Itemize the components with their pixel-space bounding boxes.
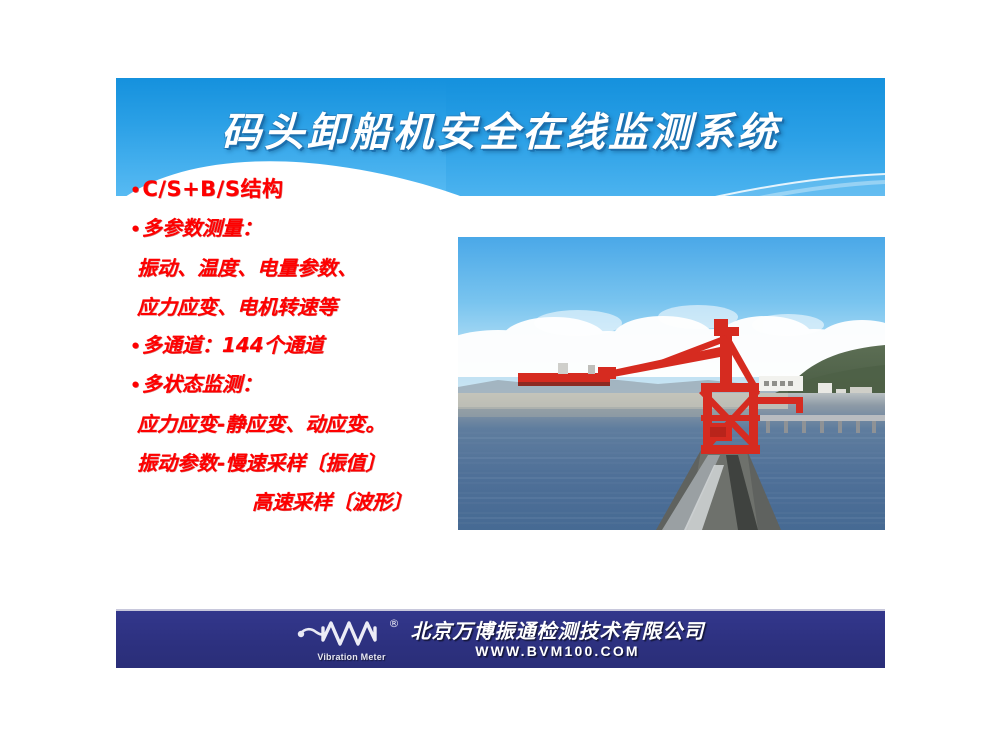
bullet-item: •多状态监测： xyxy=(130,365,490,404)
bullet-label: 应力应变、电机转速等 xyxy=(137,297,337,317)
bullet-item: •多参数测量： xyxy=(130,209,490,248)
bullet-label: 振动参数-慢速采样〔振值〕 xyxy=(137,453,385,473)
bullet-label: 应力应变-静应变、动应变。 xyxy=(137,414,385,434)
bullet-item: 应力应变-静应变、动应变。 xyxy=(130,404,490,443)
registered-trademark-icon: ® xyxy=(389,618,400,629)
photo-illustration xyxy=(458,237,885,530)
bullet-item: 振动参数-慢速采样〔振值〕 xyxy=(130,443,490,482)
footer-bar: ® Vibration Meter 北京万博振通检测技术有限公司 WWW.BVM… xyxy=(116,609,885,668)
bullet-item: •C/S+B/S结构 xyxy=(130,170,490,209)
company-name: 北京万博振通检测技术有限公司 xyxy=(411,621,705,641)
vibration-meter-wave-icon xyxy=(297,618,401,652)
page-title: 码头卸船机安全在线监测系统 xyxy=(116,100,885,158)
logo-caption: Vibration Meter xyxy=(303,652,401,662)
bullet-label: 高速采样〔波形〕 xyxy=(252,492,412,512)
footer-text-block: 北京万博振通检测技术有限公司 WWW.BVM100.COM xyxy=(411,621,705,658)
slide-canvas: 码头卸船机安全在线监测系统 •C/S+B/S结构 •多参数测量： 振动、温度、电… xyxy=(116,78,885,668)
bullet-item: 应力应变、电机转速等 xyxy=(130,287,490,326)
bullet-marker: • xyxy=(130,181,141,201)
bullet-item: 高速采样〔波形〕 xyxy=(130,482,490,521)
company-website[interactable]: WWW.BVM100.COM xyxy=(475,644,640,658)
bullet-marker: • xyxy=(130,220,141,240)
bullet-marker: • xyxy=(130,376,141,396)
bullet-label: 多参数测量： xyxy=(142,216,262,240)
bullet-label: C/S+B/S结构 xyxy=(142,177,283,201)
bullet-item: •多通道：144个通道 xyxy=(130,326,490,365)
bullet-label: 振动、温度、电量参数、 xyxy=(137,258,357,278)
bullet-item: 振动、温度、电量参数、 xyxy=(130,248,490,287)
bullet-label: 多状态监测： xyxy=(142,372,262,396)
port-crane-photo xyxy=(458,237,885,530)
company-logo: ® Vibration Meter xyxy=(297,618,401,662)
bullet-list: •C/S+B/S结构 •多参数测量： 振动、温度、电量参数、 应力应变、电机转速… xyxy=(130,170,490,521)
footer-content: ® Vibration Meter 北京万博振通检测技术有限公司 WWW.BVM… xyxy=(297,618,705,662)
bullet-label: 多通道：144个通道 xyxy=(142,333,324,357)
bullet-marker: • xyxy=(130,337,141,357)
